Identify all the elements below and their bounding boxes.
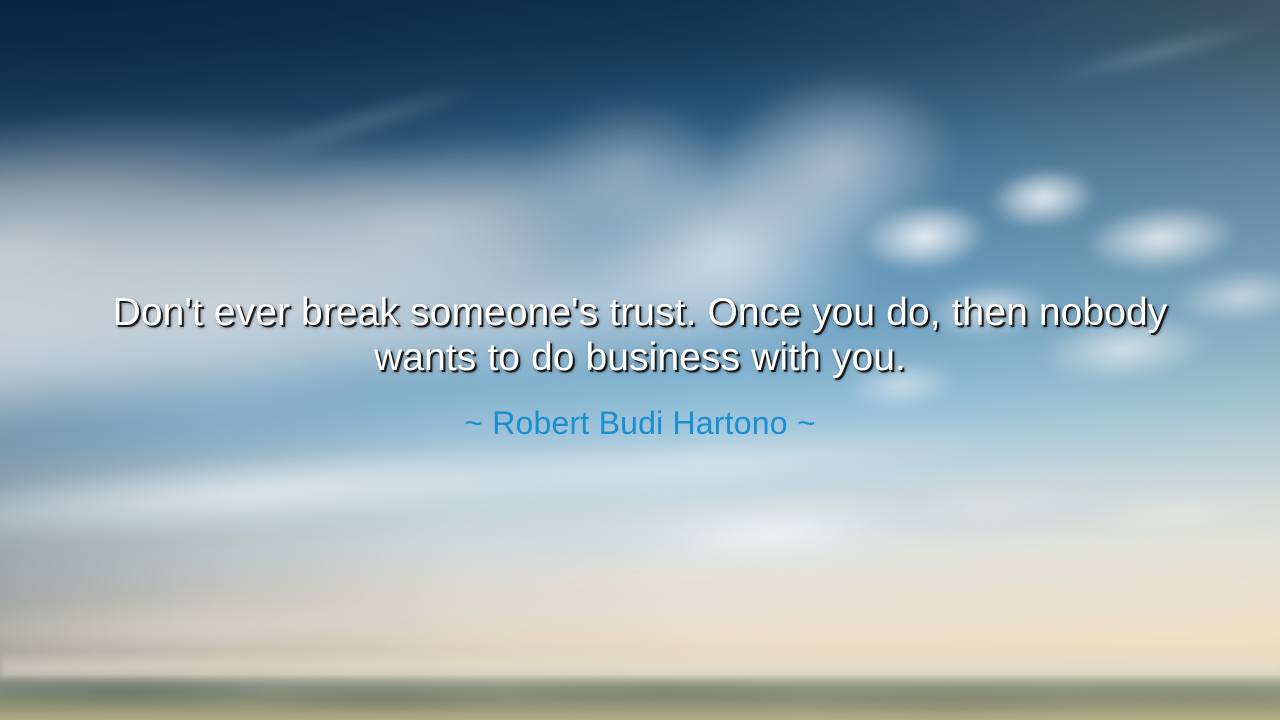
quote-attribution: ~ Robert Budi Hartono ~ <box>464 404 815 442</box>
quote-image-scene: Don't ever break someone's trust. Once y… <box>0 0 1280 720</box>
text-overlay: Don't ever break someone's trust. Once y… <box>0 0 1280 720</box>
quote-text: Don't ever break someone's trust. Once y… <box>80 290 1200 380</box>
